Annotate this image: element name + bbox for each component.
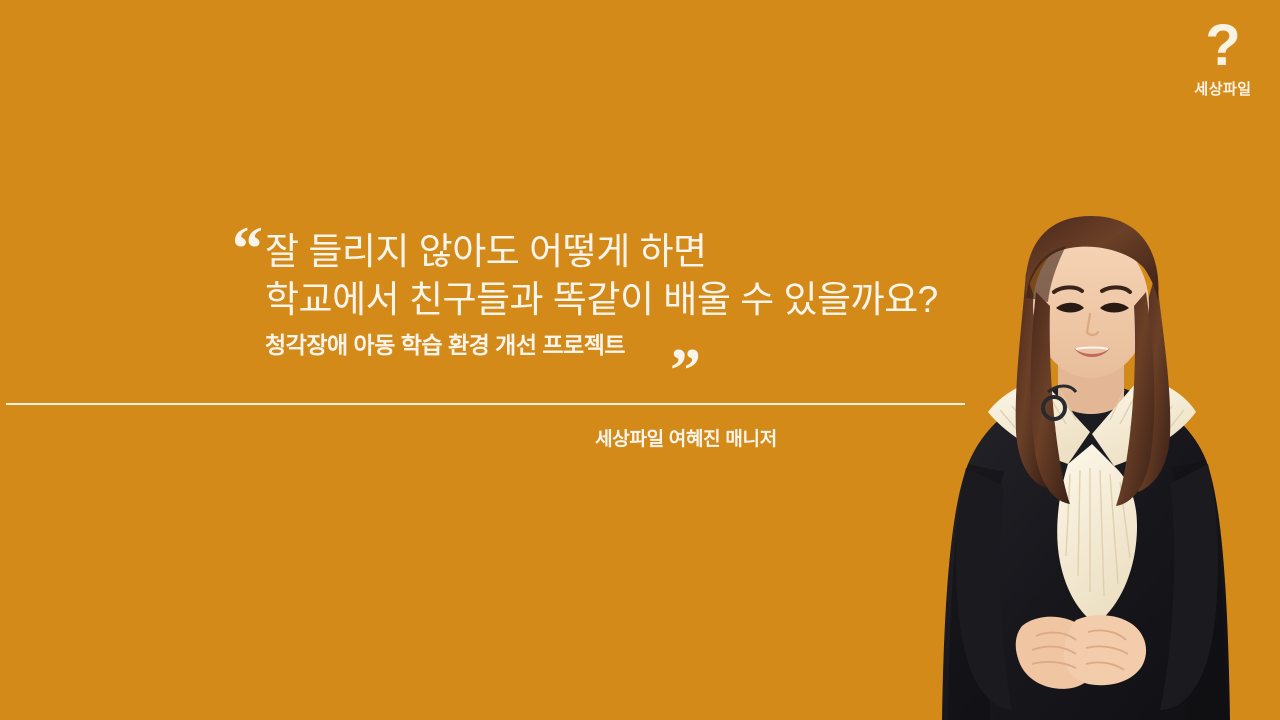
quote-subtitle: 청각장애 아동 학습 환경 개선 프로젝트 (265, 330, 625, 360)
brand-logo: ? 세상파일 (1180, 18, 1266, 99)
quote-line-2: 학교에서 친구들과 똑같이 배울 수 있을까요? (265, 276, 938, 324)
speaker-attribution: 세상파일 여혜진 매니저 (0, 428, 1280, 452)
quote-line-1: 잘 들리지 않아도 어떻게 하면 (265, 228, 707, 276)
presenter-photo (930, 196, 1280, 720)
video-frame: ? 세상파일 (0, 0, 1280, 720)
question-mark-icon: ? (1180, 18, 1266, 74)
open-quote-icon: “ (232, 218, 261, 280)
divider-line (6, 403, 965, 405)
close-quote-icon: ” (670, 340, 699, 402)
brand-name-label: 세상파일 (1180, 78, 1266, 99)
presenter-illustration (930, 196, 1280, 720)
